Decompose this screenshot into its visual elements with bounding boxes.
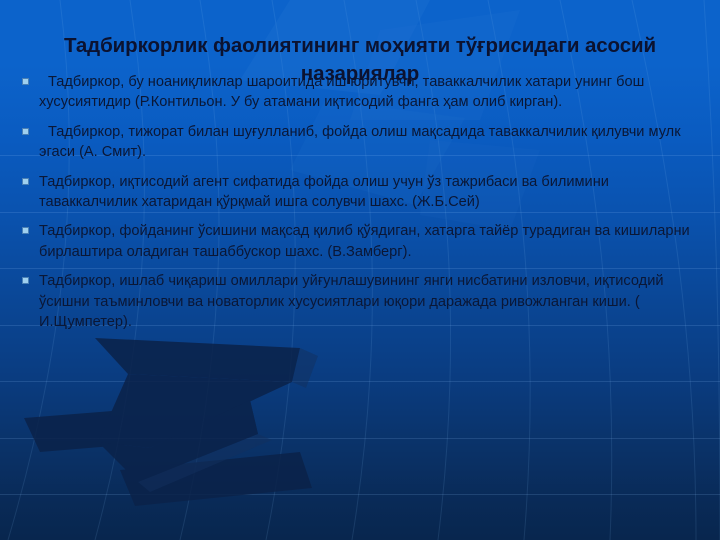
bullet-square-icon bbox=[22, 277, 29, 284]
presentation-slide: Тадбиркор, бу ноаниқликлар шароитида иш … bbox=[0, 0, 720, 540]
bullet-text: Тадбиркор, иқтисодий агент сифатида фойд… bbox=[39, 172, 702, 213]
bullet-text: Тадбиркор, тижорат билан шуғулланиб, фой… bbox=[39, 122, 702, 163]
list-item: Тадбиркор, ишлаб чиқариш омиллари уйғунл… bbox=[22, 271, 702, 332]
bullet-square-icon bbox=[22, 178, 29, 185]
page-title: Тадбиркорлик фаолиятининг моҳияти тўғрис… bbox=[36, 32, 684, 88]
slide-title-placeholder: Тадбиркорлик фаолиятининг моҳияти тўғрис… bbox=[36, 32, 684, 88]
background-band-line bbox=[0, 494, 720, 495]
bullet-square-icon bbox=[22, 78, 29, 85]
list-item: Тадбиркор, тижорат билан шуғулланиб, фой… bbox=[22, 122, 702, 163]
background-band-line bbox=[0, 438, 720, 439]
bullet-list: Тадбиркор, бу ноаниқликлар шароитида иш … bbox=[22, 72, 702, 341]
list-item: Тадбиркор, фойданинг ўсишини мақсад қили… bbox=[22, 221, 702, 262]
bullet-square-icon bbox=[22, 128, 29, 135]
bullet-text: Тадбиркор, фойданинг ўсишини мақсад қили… bbox=[39, 221, 702, 262]
list-item: Тадбиркор, иқтисодий агент сифатида фойд… bbox=[22, 172, 702, 213]
bullet-square-icon bbox=[22, 227, 29, 234]
bullet-text: Тадбиркор, ишлаб чиқариш омиллари уйғунл… bbox=[39, 271, 702, 332]
background-watermark-glyph bbox=[0, 330, 420, 540]
background-band-line bbox=[0, 381, 720, 382]
